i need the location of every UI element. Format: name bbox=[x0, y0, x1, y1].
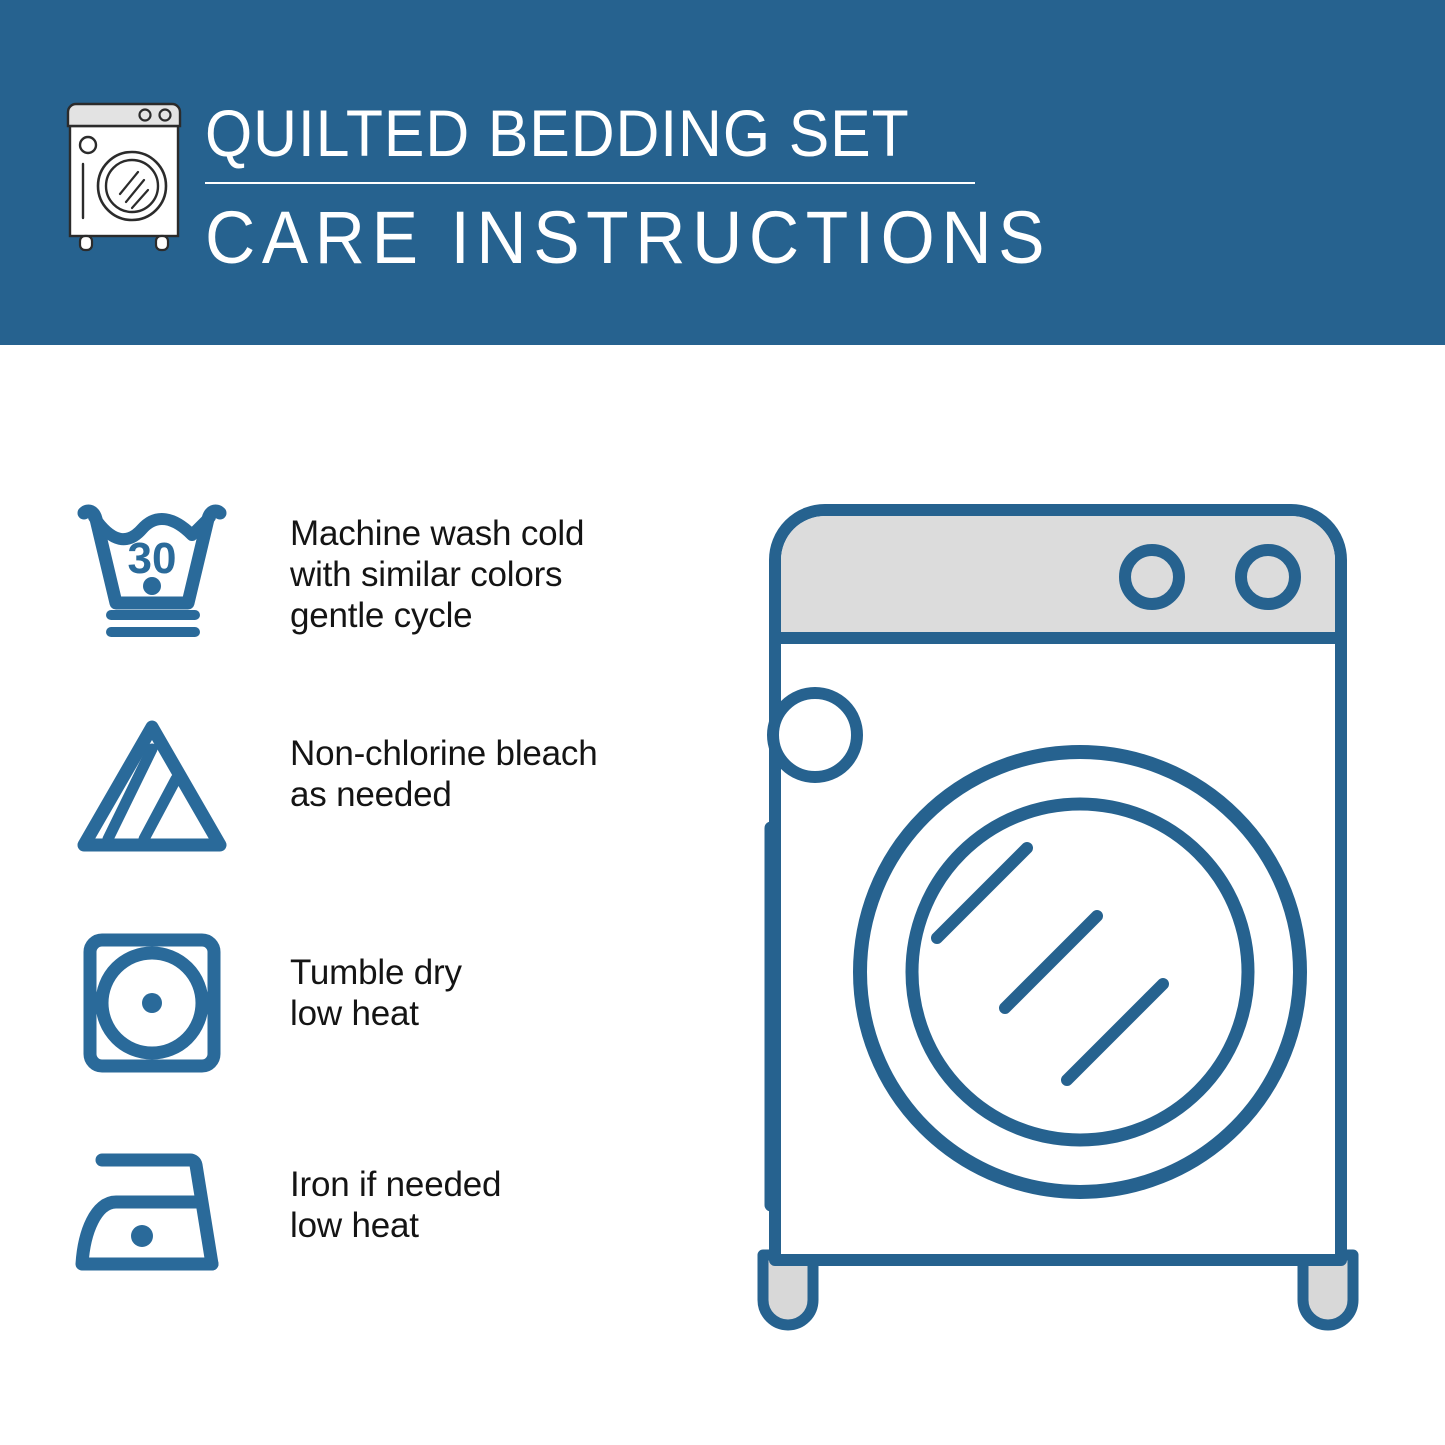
care-label-line: Iron if needed bbox=[290, 1164, 690, 1205]
care-label-tumble-dry: Tumble dry low heat bbox=[290, 952, 690, 1034]
care-label-wash: Machine wash cold with similar colors ge… bbox=[290, 513, 690, 636]
care-label-line: gentle cycle bbox=[290, 595, 690, 636]
wash-temperature-label: 30 bbox=[128, 534, 177, 583]
washing-machine-icon bbox=[62, 98, 190, 253]
iron-icon bbox=[72, 1140, 232, 1290]
knob-right bbox=[1241, 550, 1295, 604]
care-label-line: Machine wash cold bbox=[290, 513, 690, 554]
knob-left bbox=[1125, 550, 1179, 604]
page-header: QUILTED BEDDING SET CARE INSTRUCTIONS bbox=[0, 0, 1445, 345]
door-inner-ring bbox=[912, 804, 1248, 1140]
care-label-bleach: Non-chlorine bleach as needed bbox=[290, 733, 690, 815]
page-subtitle: CARE INSTRUCTIONS bbox=[205, 198, 957, 278]
care-label-line: low heat bbox=[290, 1205, 690, 1246]
wash-tub-icon: 30 bbox=[72, 495, 232, 645]
header-title-block: QUILTED BEDDING SET CARE INSTRUCTIONS bbox=[205, 96, 1005, 278]
care-instruction-list: 30 Machine wash cold with similar colors… bbox=[0, 345, 700, 1445]
care-label-line: with similar colors bbox=[290, 554, 690, 595]
tumble-dry-icon bbox=[72, 928, 232, 1078]
front-load-washing-machine-illustration bbox=[715, 460, 1415, 1380]
care-label-line: low heat bbox=[290, 993, 690, 1034]
page-title: QUILTED BEDDING SET bbox=[205, 96, 941, 170]
bleach-triangle-icon bbox=[72, 713, 232, 863]
dispenser-button bbox=[773, 693, 857, 777]
care-label-iron: Iron if needed low heat bbox=[290, 1164, 690, 1246]
care-label-line: as needed bbox=[290, 774, 690, 815]
title-divider bbox=[205, 182, 975, 184]
care-label-line: Non-chlorine bleach bbox=[290, 733, 690, 774]
care-label-line: Tumble dry bbox=[290, 952, 690, 993]
care-instructions-page: QUILTED BEDDING SET CARE INSTRUCTIONS 30 bbox=[0, 0, 1445, 1445]
